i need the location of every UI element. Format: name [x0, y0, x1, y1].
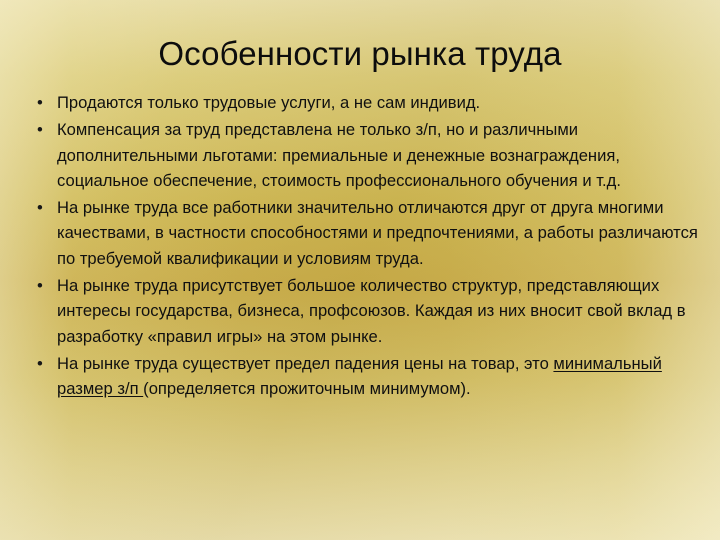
- bullet-point-icon: •: [37, 273, 49, 298]
- list-item-text: На рынке труда все работники значительно…: [57, 195, 698, 271]
- list-item: • На рынке труда все работники значитель…: [30, 195, 698, 271]
- list-item: • На рынке труда присутствует большое ко…: [30, 273, 698, 349]
- slide-content: Особенности рынка труда • Продаются толь…: [0, 0, 720, 540]
- bullet-point-icon: •: [37, 351, 49, 376]
- bullet-point-icon: •: [37, 90, 49, 115]
- slide-title: Особенности рынка труда: [36, 34, 684, 74]
- list-item-text-tail: (определяется прожиточным минимумом).: [143, 379, 471, 398]
- list-item: • Продаются только трудовые услуги, а не…: [30, 90, 698, 115]
- list-item-text: Компенсация за труд представлена не толь…: [57, 117, 698, 193]
- bullet-point-icon: •: [37, 117, 49, 142]
- slide-canvas: Особенности рынка труда • Продаются толь…: [0, 0, 720, 540]
- bullet-point-icon: •: [37, 195, 49, 220]
- list-item-text: На рынке труда присутствует большое коли…: [57, 273, 698, 349]
- bullet-list: • Продаются только трудовые услуги, а не…: [30, 90, 698, 404]
- list-item-text: Продаются только трудовые услуги, а не с…: [57, 90, 698, 115]
- list-item: • Компенсация за труд представлена не то…: [30, 117, 698, 193]
- list-item-text-lead: На рынке труда существует предел падения…: [57, 354, 553, 373]
- list-item: • На рынке труда существует предел паден…: [30, 351, 698, 402]
- list-item-text: На рынке труда существует предел падения…: [57, 351, 698, 402]
